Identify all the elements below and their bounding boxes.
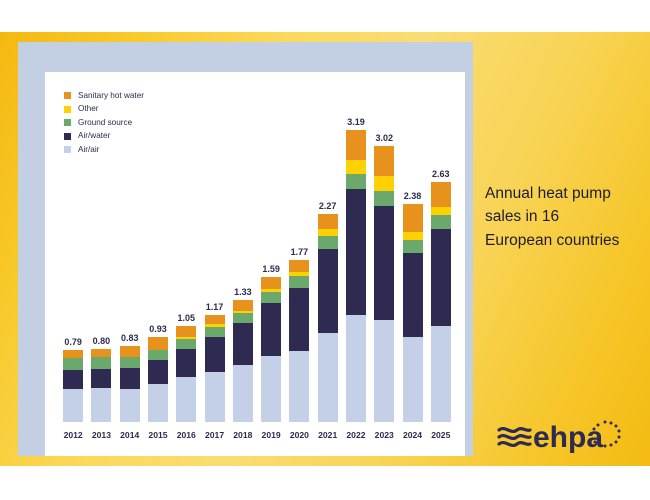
bar-segment: [176, 349, 196, 377]
x-axis-tick-2014: 2014: [116, 424, 144, 446]
bar-total-label: 3.02: [375, 134, 393, 143]
bar-segment: [318, 214, 338, 229]
bar-segment: [261, 303, 281, 356]
bar-total-label: 1.05: [178, 314, 196, 323]
bar-segment: [63, 358, 83, 370]
bar-segment: [205, 315, 225, 324]
bar-segment: [120, 368, 140, 389]
bar-segment: [120, 389, 140, 422]
x-axis-tick-2019: 2019: [257, 424, 285, 446]
bar-total-label: 2.27: [319, 202, 337, 211]
bar-segment: [91, 349, 111, 357]
bar-column[interactable]: 0.80: [87, 90, 115, 422]
bar-stack: [233, 300, 253, 422]
bar-segment: [318, 229, 338, 236]
bar-total-label: 1.33: [234, 288, 252, 297]
bar-stack: [431, 182, 451, 422]
bar-segment: [148, 384, 168, 422]
bar-stack: [148, 337, 168, 422]
bar-column[interactable]: 3.02: [370, 90, 398, 422]
bar-segment: [233, 313, 253, 323]
bar-column[interactable]: 2.38: [398, 90, 426, 422]
bar-segment: [148, 360, 168, 384]
slide-canvas: Sanitary hot waterOtherGround sourceAir/…: [0, 32, 650, 466]
bar-segment: [374, 320, 394, 422]
bar-segment: [176, 377, 196, 422]
bar-segment: [91, 357, 111, 369]
bar-segment: [233, 323, 253, 365]
bar-column[interactable]: 0.79: [59, 90, 87, 422]
bar-segment: [431, 207, 451, 215]
bar-segment: [261, 292, 281, 303]
bar-segment: [261, 356, 281, 422]
bar-segment: [374, 146, 394, 176]
bar-segment: [431, 229, 451, 326]
bar-total-label: 2.63: [432, 170, 450, 179]
bar-stack: [289, 260, 309, 422]
bar-segment: [261, 277, 281, 290]
x-axis-tick-2020: 2020: [285, 424, 313, 446]
bar-segment: [148, 350, 168, 360]
bar-segment: [205, 372, 225, 422]
bar-segment: [289, 276, 309, 288]
bar-column[interactable]: 1.33: [229, 90, 257, 422]
bar-total-label: 2.38: [404, 192, 422, 201]
bar-segment: [431, 326, 451, 422]
x-axis-tick-2013: 2013: [87, 424, 115, 446]
x-axis-tick-2018: 2018: [229, 424, 257, 446]
bar-total-label: 1.59: [262, 265, 280, 274]
bar-total-label: 1.17: [206, 303, 224, 312]
bar-segment: [374, 191, 394, 207]
bar-segment: [176, 339, 196, 349]
bar-total-label: 3.19: [347, 118, 365, 127]
bar-segment: [120, 357, 140, 368]
bar-stack: [374, 146, 394, 422]
bar-segment: [403, 204, 423, 231]
bar-segment: [148, 337, 168, 350]
x-axis-tick-2015: 2015: [144, 424, 172, 446]
x-axis-tick-2021: 2021: [314, 424, 342, 446]
bar-segment: [289, 351, 309, 422]
bar-segment: [374, 176, 394, 191]
bar-segment: [346, 189, 366, 315]
bar-column[interactable]: 2.27: [314, 90, 342, 422]
bar-segment: [318, 249, 338, 333]
chart-plot-area: 0.790.800.830.931.051.171.331.591.772.27…: [57, 90, 457, 450]
bar-total-label: 0.93: [149, 325, 167, 334]
x-axis-tick-2012: 2012: [59, 424, 87, 446]
bar-segment: [431, 215, 451, 229]
bar-stack: [318, 214, 338, 422]
bar-column[interactable]: 0.93: [144, 90, 172, 422]
bar-series-container: 0.790.800.830.931.051.171.331.591.772.27…: [57, 90, 457, 422]
bar-segment: [374, 206, 394, 319]
brand-wordmark: ehpa: [533, 421, 603, 454]
bar-segment: [403, 337, 423, 422]
bar-segment: [403, 240, 423, 253]
bar-segment: [91, 369, 111, 388]
bar-segment: [346, 174, 366, 189]
x-axis-tick-2023: 2023: [370, 424, 398, 446]
bar-stack: [176, 326, 196, 422]
bar-stack: [346, 130, 366, 422]
bar-total-label: 0.83: [121, 334, 139, 343]
bar-stack: [261, 277, 281, 422]
x-axis-tick-2022: 2022: [342, 424, 370, 446]
bar-segment: [63, 370, 83, 389]
bar-column[interactable]: 1.77: [285, 90, 313, 422]
bar-total-label: 0.79: [64, 338, 82, 347]
bar-stack: [205, 315, 225, 422]
bar-segment: [205, 337, 225, 372]
bar-segment: [233, 300, 253, 310]
bar-segment: [289, 288, 309, 351]
bar-column[interactable]: 0.83: [116, 90, 144, 422]
bar-segment: [403, 232, 423, 240]
chart-card: Sanitary hot waterOtherGround sourceAir/…: [45, 72, 465, 456]
bar-segment: [346, 130, 366, 159]
bar-segment: [63, 389, 83, 422]
bar-segment: [346, 160, 366, 175]
bar-segment: [318, 236, 338, 249]
bar-segment: [318, 333, 338, 422]
x-axis-tick-2017: 2017: [200, 424, 228, 446]
bar-segment: [120, 346, 140, 357]
bar-segment: [176, 326, 196, 337]
bar-segment: [63, 350, 83, 358]
bar-segment: [233, 365, 253, 422]
bar-column[interactable]: 3.19: [342, 90, 370, 422]
bar-stack: [120, 346, 140, 422]
bar-stack: [63, 350, 83, 422]
bar-segment: [289, 260, 309, 272]
x-axis-tick-2025: 2025: [427, 424, 455, 446]
headline-text: Annual heat pump sales in 16 European co…: [485, 182, 625, 252]
bar-column[interactable]: 1.17: [200, 90, 228, 422]
bar-segment: [346, 315, 366, 422]
bar-total-label: 1.77: [291, 248, 309, 257]
x-axis-tick-2016: 2016: [172, 424, 200, 446]
bar-column[interactable]: 2.63: [427, 90, 455, 422]
bar-segment: [403, 253, 423, 337]
bar-segment: [431, 182, 451, 208]
bar-column[interactable]: 1.05: [172, 90, 200, 422]
bar-stack: [403, 204, 423, 422]
x-axis-tick-labels: 2012201320142015201620172018201920202021…: [57, 424, 457, 446]
bar-stack: [91, 349, 111, 422]
x-axis-tick-2024: 2024: [398, 424, 426, 446]
bar-column[interactable]: 1.59: [257, 90, 285, 422]
ehpa-logo: ehpa: [497, 413, 625, 459]
bar-segment: [91, 388, 111, 422]
wave-icon: [499, 429, 530, 446]
bar-segment: [205, 327, 225, 337]
bar-total-label: 0.80: [93, 337, 111, 346]
